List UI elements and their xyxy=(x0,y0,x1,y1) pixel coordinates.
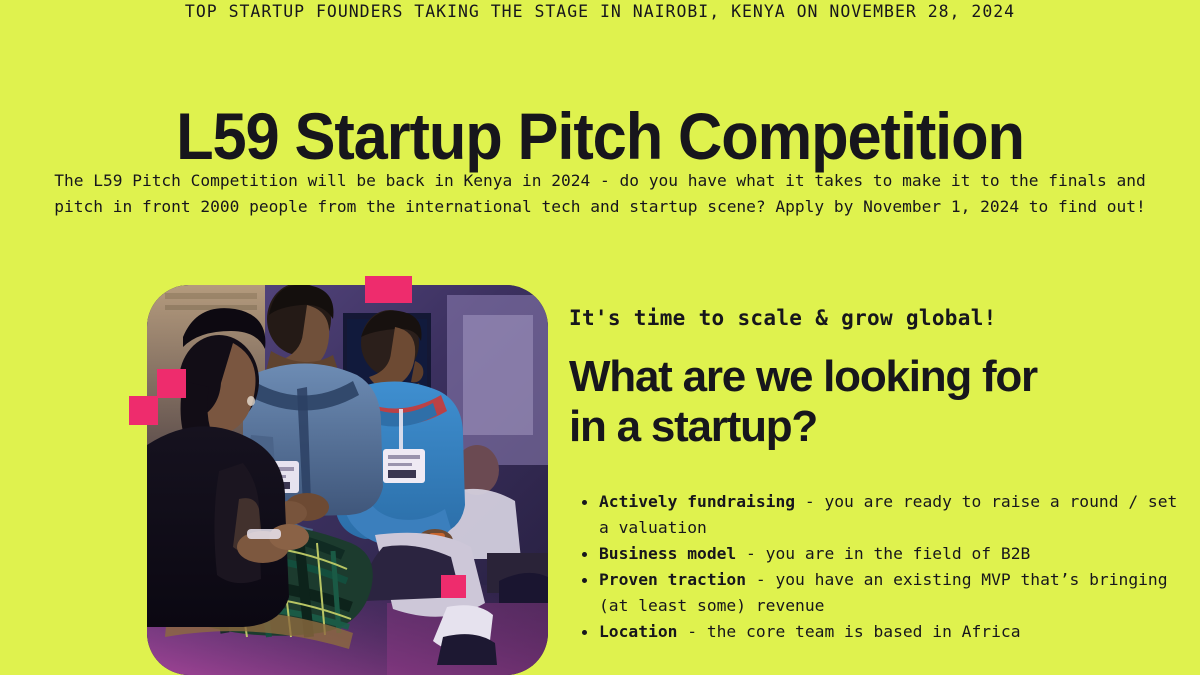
list-item: Business model - you are in the field of… xyxy=(599,541,1184,567)
tagline: It's time to scale & grow global! xyxy=(569,306,1184,330)
criteria-list: Actively fundraising - you are ready to … xyxy=(569,489,1184,645)
criteria-term: Actively fundraising xyxy=(599,492,795,511)
page-title: L59 Startup Pitch Competition xyxy=(42,102,1158,171)
pink-square-bottom xyxy=(441,575,466,598)
poster-page: TOP STARTUP FOUNDERS TAKING THE STAGE IN… xyxy=(0,0,1200,675)
pink-square-upper-left xyxy=(157,369,186,398)
criteria-column: It's time to scale & grow global! What a… xyxy=(569,306,1184,645)
list-item: Location - the core team is based in Afr… xyxy=(599,619,1184,645)
list-item: Actively fundraising - you are ready to … xyxy=(599,489,1184,541)
photo-block xyxy=(147,285,548,675)
event-kicker: TOP STARTUP FOUNDERS TAKING THE STAGE IN… xyxy=(0,2,1200,21)
intro-paragraph: The L59 Pitch Competition will be back i… xyxy=(30,168,1170,220)
audience-photo xyxy=(147,285,548,675)
criteria-term: Business model xyxy=(599,544,736,563)
criteria-term: Proven traction xyxy=(599,570,746,589)
pink-square-lower-left xyxy=(129,396,158,425)
list-item: Proven traction - you have an existing M… xyxy=(599,567,1184,619)
criteria-heading-line2: in a startup? xyxy=(569,402,817,451)
criteria-heading: What are we looking for in a startup? xyxy=(569,352,1184,452)
criteria-term: Location xyxy=(599,622,677,641)
criteria-heading-line1: What are we looking for xyxy=(569,352,1037,401)
criteria-description: - the core team is based in Africa xyxy=(677,622,1020,641)
criteria-description: - you are in the field of B2B xyxy=(736,544,1030,563)
pink-rectangle-top xyxy=(365,276,412,303)
